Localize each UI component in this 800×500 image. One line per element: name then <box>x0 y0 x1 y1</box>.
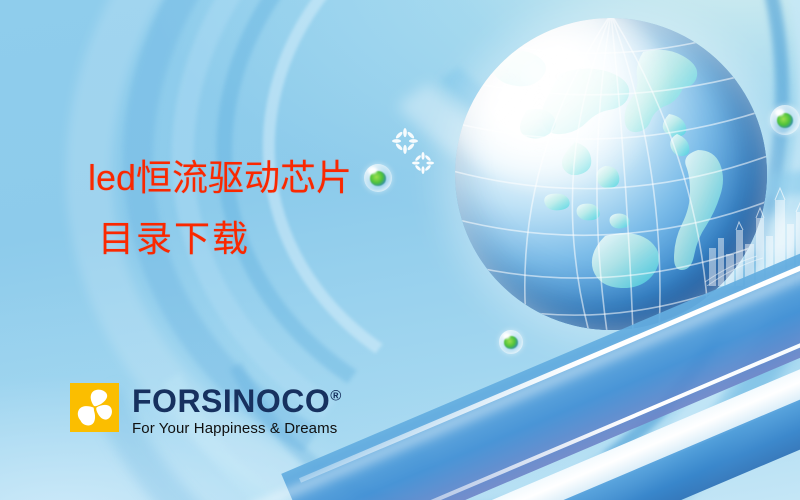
sparkle-burst-1-icon <box>392 128 418 154</box>
bubble-green-right-icon <box>770 105 800 135</box>
brand-wordmark-text: FORSINOCO <box>132 383 330 419</box>
brand-wordmark: FORSINOCO® <box>132 385 341 417</box>
forsinoco-pinwheel-icon <box>70 383 119 432</box>
headline-line-2: 目录下载 <box>0 198 420 259</box>
headline-block: led恒流驱动芯片 目录下载 <box>0 160 420 258</box>
bubble-gleam <box>503 333 510 339</box>
headline-line-1-latin: led <box>88 157 136 198</box>
city-skyline-icon <box>705 178 800 286</box>
bubble-gleam <box>775 109 784 116</box>
registered-trademark-icon: ® <box>330 387 341 404</box>
bubble-green-lower-icon <box>499 330 523 354</box>
poster-canvas: led恒流驱动芯片 目录下载 FORSINOCO® For Your Happi… <box>0 0 800 500</box>
headline-line-1-cjk: 恒流驱动芯片 <box>136 158 352 199</box>
brand-tagline: For Your Happiness & Dreams <box>132 420 341 437</box>
headline-line-1: led恒流驱动芯片 <box>0 160 420 198</box>
brand-logo-text: FORSINOCO® For Your Happiness & Dreams <box>132 383 341 437</box>
brand-logo: FORSINOCO® For Your Happiness & Dreams <box>70 383 341 437</box>
